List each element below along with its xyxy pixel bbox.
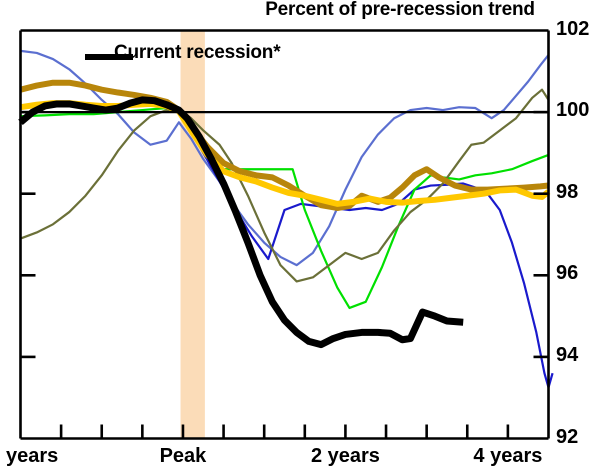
recession-band	[181, 31, 205, 439]
x-axis-label-3: 4 years	[438, 445, 578, 468]
chart-root: Percent of pre-recession trend Current r…	[0, 0, 600, 467]
y-axis-label-102: 102	[556, 18, 598, 41]
series-line-current-recession	[21, 100, 464, 345]
y-axis-label-96: 96	[556, 262, 598, 285]
series-line-light-blue-recession	[21, 51, 549, 265]
series-line-dark-blue-recession	[159, 102, 553, 388]
legend-label-current-recession: Current recession*	[114, 42, 280, 64]
recession-band-layer	[181, 31, 205, 439]
x-axis-label-0: -2 years	[0, 445, 91, 468]
x-axis-label-2: 2 years	[275, 445, 415, 468]
chart-plot-area	[0, 0, 600, 467]
y-axis-label-100: 100	[556, 99, 598, 122]
series-line-green-recession	[21, 108, 549, 308]
x-axis-label-1: Peak	[113, 445, 253, 468]
series-layer	[21, 51, 553, 388]
y-axis-label-94: 94	[556, 344, 598, 367]
y-axis-label-98: 98	[556, 181, 598, 204]
